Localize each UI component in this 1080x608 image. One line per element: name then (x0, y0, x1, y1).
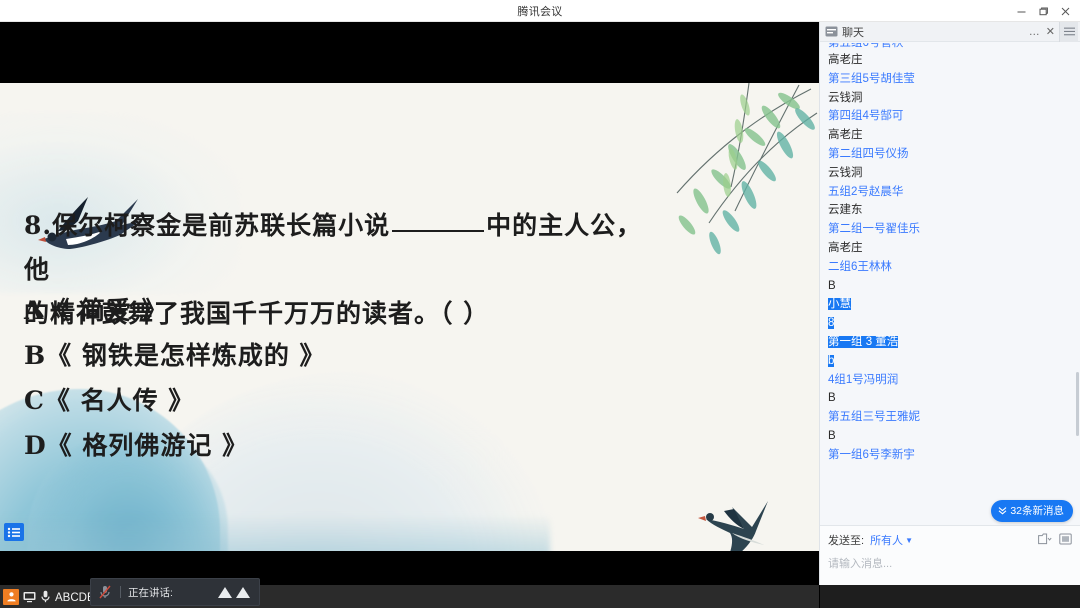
chat-message-body: B (820, 389, 1080, 408)
chat-sender-name: 第一组6号李新宇 (820, 446, 1080, 465)
chat-message-text: 第五组三号王雅妮 (828, 411, 920, 423)
waveform-icon (217, 584, 253, 600)
chat-sender-name: 二组6王林林 (820, 258, 1080, 277)
chat-message-body: 高老庄 (820, 51, 1080, 70)
chat-message-text: B (828, 280, 836, 292)
chat-window-icon (825, 26, 838, 37)
chat-message-body: 云钱洞 (820, 164, 1080, 183)
chat-message-text: B (828, 392, 836, 404)
choice-b: B《 钢铁是怎样炼成的 》 (24, 333, 326, 378)
speaking-indicator: 正在讲话: (90, 578, 260, 606)
microphone-icon[interactable] (40, 590, 51, 603)
screenshot-icon[interactable] (1059, 533, 1072, 548)
chat-sender-name: 第二组四号仪扬 (820, 145, 1080, 164)
chevron-down-icon[interactable]: ▼ (905, 536, 913, 545)
chat-sender-name: 第三组5号胡佳莹 (820, 70, 1080, 89)
chat-message-body: 云建东 (820, 201, 1080, 220)
chat-footer-actions (1038, 533, 1072, 548)
send-to-row: 发送至: 所有人 ▼ (828, 532, 1072, 548)
close-icon[interactable] (1054, 0, 1076, 22)
chat-message-list[interactable]: 第五组6号管秋高老庄第三组5号胡佳莹云钱洞第四组4号郜可高老庄第二组四号仪扬云钱… (820, 42, 1080, 525)
presentation-slide: 8.保尔柯察金是前苏联长篇小说中的主人公，他 的精神鼓舞了我国千千万万的读者。（… (0, 83, 819, 551)
chat-more-button[interactable]: … (1026, 26, 1044, 38)
speaking-label: 正在讲话: (128, 585, 173, 600)
chat-message-body: B (820, 277, 1080, 296)
chat-message-text: 第二组四号仪扬 (828, 148, 909, 160)
chevron-double-down-icon (998, 506, 1007, 515)
chat-message-text: 高老庄 (828, 129, 863, 141)
window-titlebar: 腾讯会议 (0, 0, 1080, 22)
chat-message-text: B (828, 430, 836, 442)
chat-message-body: 8 (820, 314, 1080, 333)
question-line1-a: 保尔柯察金是前苏联长篇小说 (52, 211, 390, 240)
swallow-bird-icon-2 (694, 497, 790, 551)
chat-sender-name: 五组2号赵晨华 (820, 183, 1080, 202)
chat-message-text: 4组1号冯明润 (828, 374, 898, 386)
chat-message-body: 高老庄 (820, 126, 1080, 145)
chat-sender-name: 第五组6号管秋 (820, 43, 1080, 51)
chat-sender-name: 第二组一号翟佳乐 (820, 220, 1080, 239)
chat-message-text: 8 (828, 317, 834, 329)
chat-message-body: b (820, 352, 1080, 371)
chat-sender-name: 第一组 3 董浩 (820, 333, 1080, 352)
chat-message-text: 云建东 (828, 204, 863, 216)
choice-c: C《 名人传 》 (24, 378, 326, 423)
chat-message-text: 五组2号赵晨华 (828, 186, 903, 198)
mic-muted-icon[interactable] (97, 585, 113, 599)
chat-message-text: 云钱洞 (828, 167, 863, 179)
chat-panel: 聊天 … ✕ 第五组6号管秋高老庄第三组5号胡佳莹云钱洞第四组4号郜可高老庄第二… (819, 22, 1080, 585)
chat-message-text: 第五组6号管秋 (828, 43, 1072, 51)
list-icon[interactable] (4, 523, 24, 541)
chat-message-text: 第三组5号胡佳莹 (828, 73, 915, 85)
fill-in-blank (392, 210, 484, 232)
answer-choices: A《 简爱 》 B《 钢铁是怎样炼成的 》 C《 名人传 》 D《 格列佛游记 … (24, 288, 326, 468)
chat-message-text: 高老庄 (828, 54, 863, 66)
chat-message-text: 第一组 3 董浩 (828, 336, 898, 348)
choice-d: D《 格列佛游记 》 (24, 423, 326, 468)
chat-close-button[interactable]: ✕ (1044, 25, 1059, 38)
chat-panel-header: 聊天 … ✕ (820, 22, 1080, 42)
chat-message-body: B (820, 427, 1080, 446)
chat-scrollbar[interactable] (1075, 42, 1080, 525)
minimize-icon[interactable] (1010, 0, 1032, 22)
monitor-icon[interactable] (23, 591, 36, 603)
restore-icon[interactable] (1032, 0, 1054, 22)
chat-message-text: 高老庄 (828, 242, 863, 254)
chat-header-actions: … ✕ (1026, 22, 1078, 42)
new-messages-badge[interactable]: 32条新消息 (991, 500, 1073, 522)
speaking-status-bar (819, 585, 1080, 608)
mountain-ridge (0, 515, 550, 551)
chat-sender-name: 第五组三号王雅妮 (820, 408, 1080, 427)
chat-input-placeholder[interactable]: 请输入消息... (828, 555, 1072, 571)
chat-footer: 发送至: 所有人 ▼ (820, 525, 1080, 585)
send-to-label: 发送至: (828, 532, 864, 548)
chat-message-body: 高老庄 (820, 239, 1080, 258)
shared-screen-stage: 8.保尔柯察金是前苏联长篇小说中的主人公，他 的精神鼓舞了我国千千万万的读者。（… (0, 22, 819, 585)
window-controls (1010, 0, 1076, 22)
hamburger-icon[interactable] (1059, 22, 1078, 42)
chat-panel-title: 聊天 (842, 24, 864, 40)
chat-message-text: 第一组6号李新宇 (828, 449, 915, 461)
chat-message-text: b (828, 355, 834, 367)
choice-a: A《 简爱 》 (24, 288, 326, 333)
chat-message-text: 二组6王林林 (828, 261, 892, 273)
chat-message-text: 第二组一号翟佳乐 (828, 223, 920, 235)
chat-message-text: 小慧 (828, 298, 851, 310)
chat-sender-name: 4组1号冯明润 (820, 371, 1080, 390)
person-icon (3, 589, 19, 605)
chat-scrollbar-thumb[interactable] (1076, 372, 1079, 436)
chat-message-body: 云钱洞 (820, 89, 1080, 108)
send-to-value[interactable]: 所有人 (870, 532, 903, 548)
chat-sender-name: 第四组4号郜可 (820, 107, 1080, 126)
chat-sender-name: 小慧 (820, 295, 1080, 314)
window-title: 腾讯会议 (517, 3, 562, 19)
chat-message-text: 第四组4号郜可 (828, 110, 903, 122)
chat-message-text: 云钱洞 (828, 92, 863, 104)
divider (120, 586, 121, 598)
new-messages-label: 32条新消息 (1010, 503, 1064, 518)
question-prefix: 8. (24, 211, 52, 240)
folder-icon[interactable] (1038, 533, 1053, 548)
app-root: 腾讯会议 (0, 0, 1080, 608)
